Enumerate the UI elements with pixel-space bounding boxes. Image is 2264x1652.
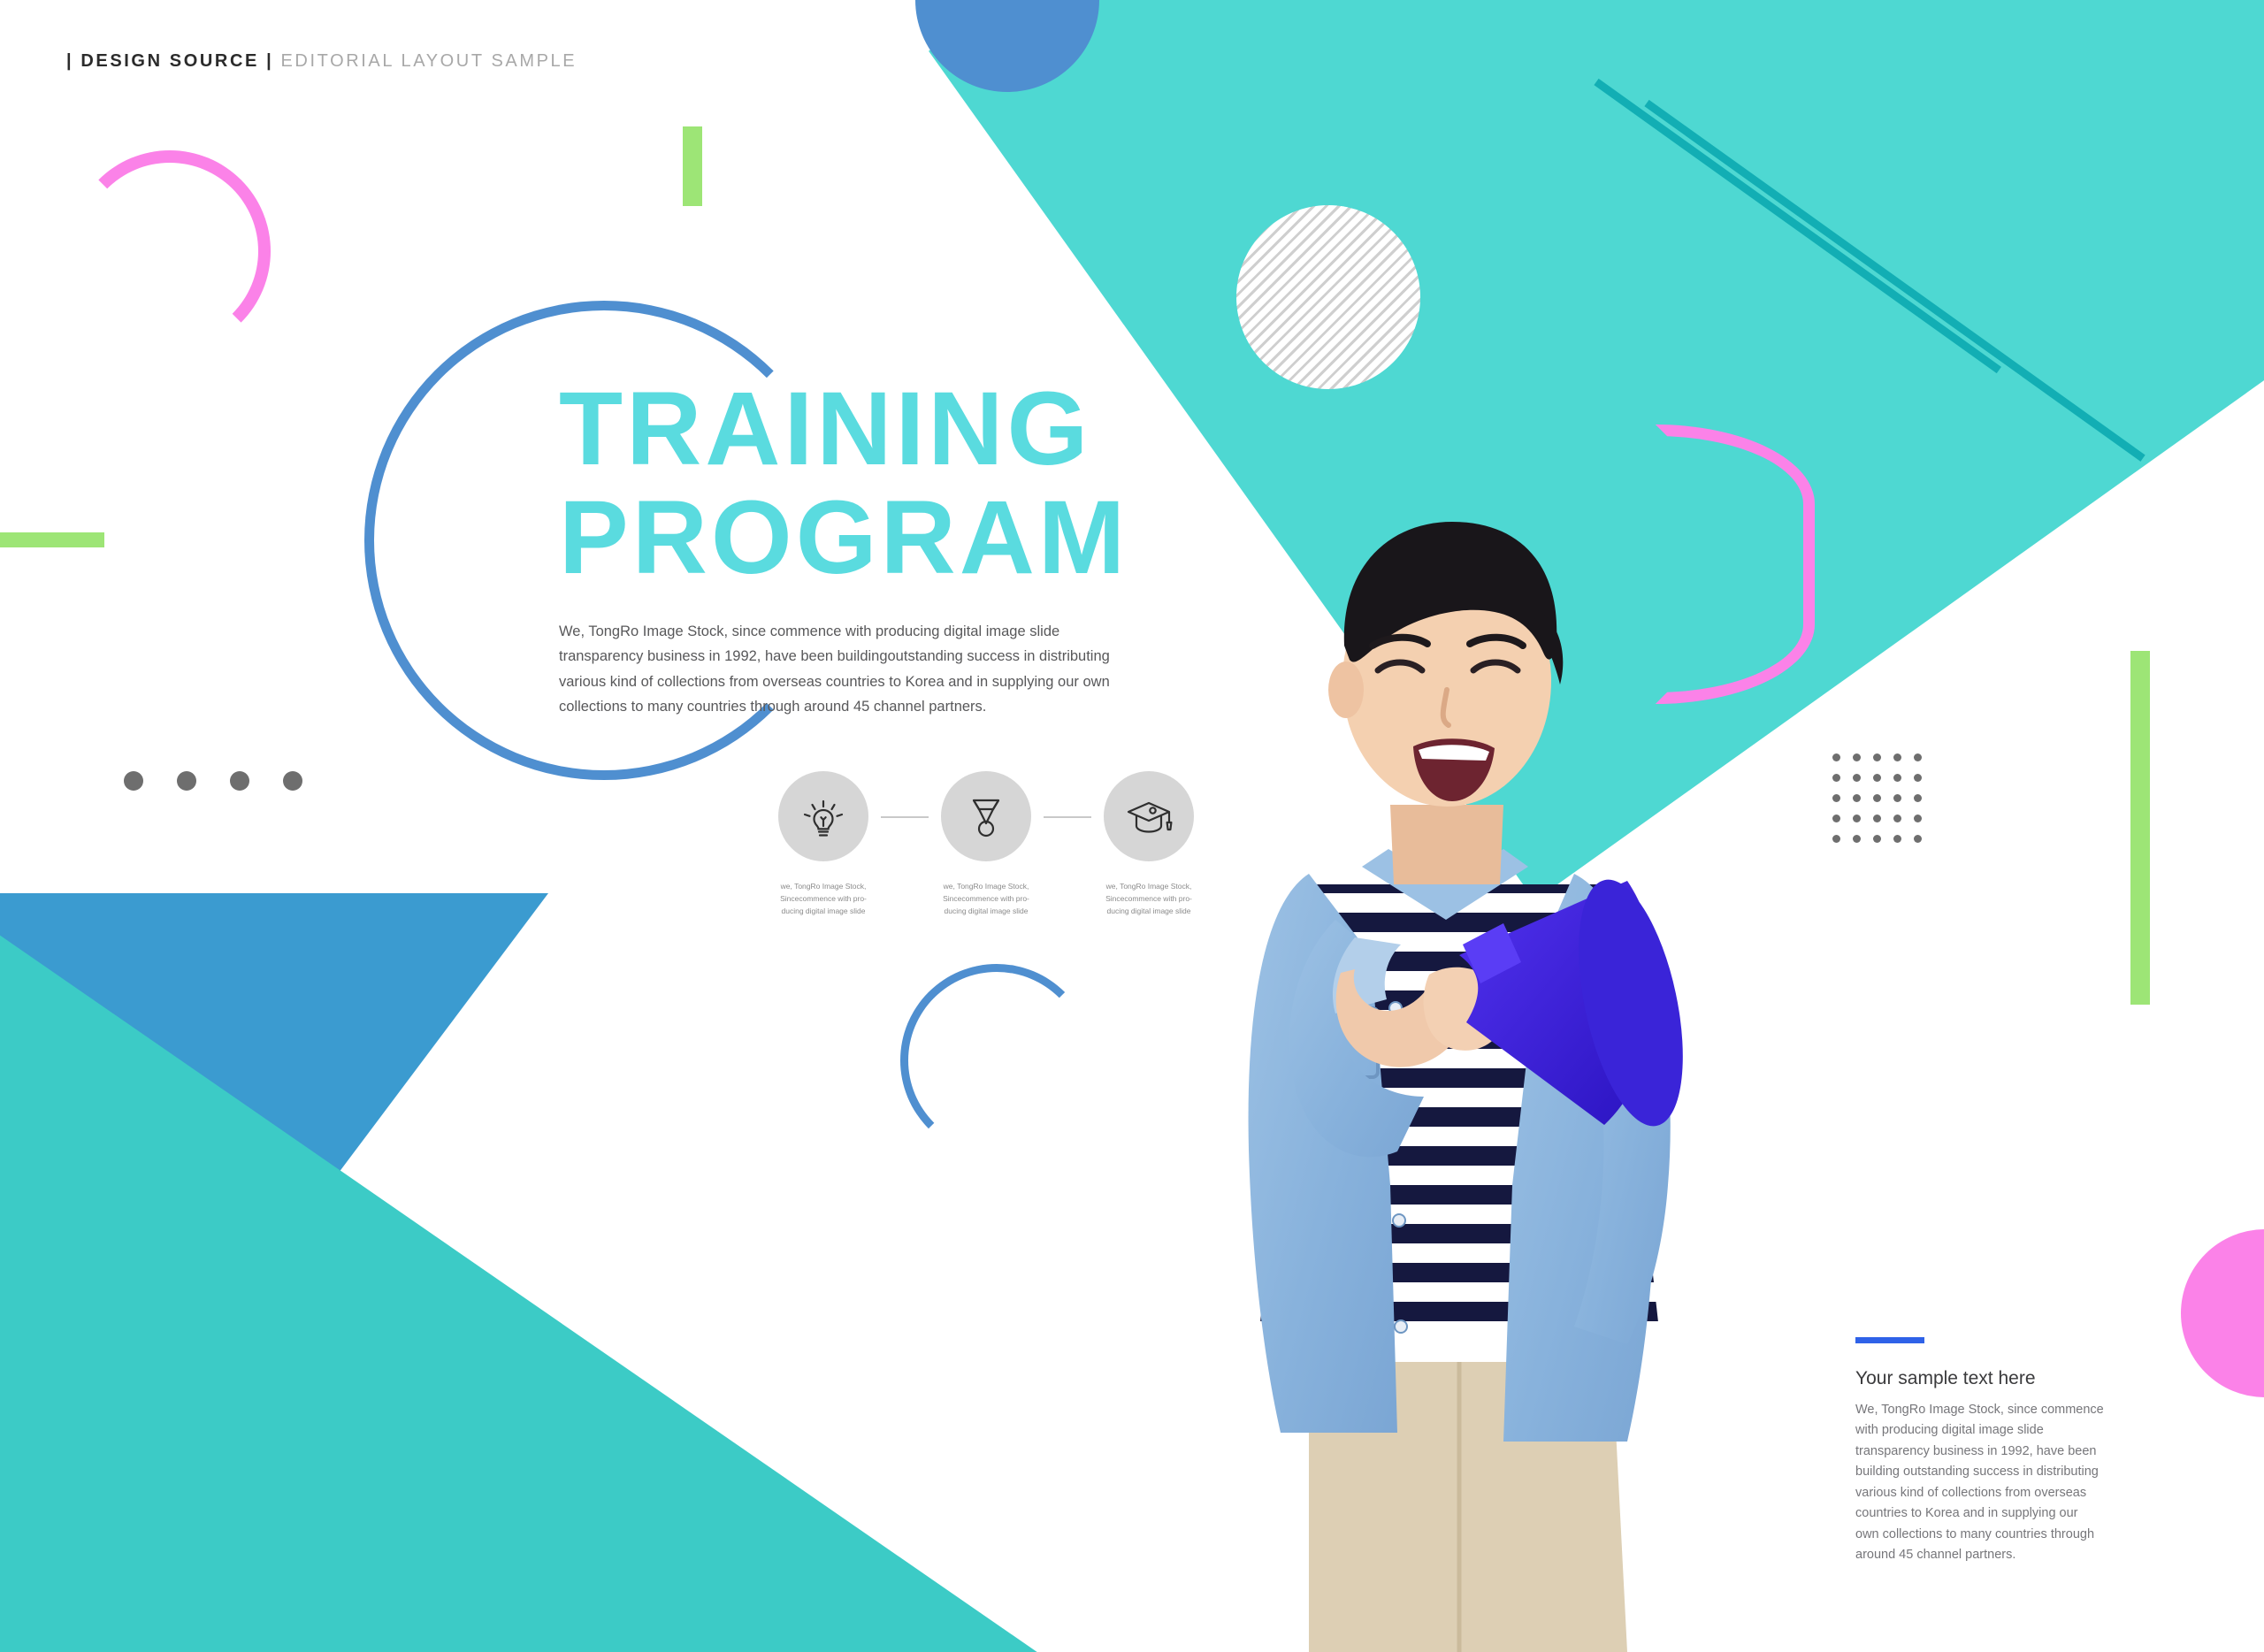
feature-item-2[interactable]: we, TongRo Image Stock, Sincecommence wi… xyxy=(929,771,1044,917)
pink-quarter-arc-top-left xyxy=(69,150,271,352)
green-bar-left xyxy=(0,532,104,547)
sidebar-note-heading: Your sample text here xyxy=(1855,1368,2105,1389)
striped-circle-decor xyxy=(1236,205,1420,389)
header-subtitle: EDITORIAL LAYOUT SAMPLE xyxy=(280,51,577,71)
icon-circle-2 xyxy=(941,771,1031,861)
sidebar-note: Your sample text here We, TongRo Image S… xyxy=(1855,1337,2105,1566)
feature-caption-1: we, TongRo Image Stock, Sincecommence wi… xyxy=(774,881,873,917)
teal-triangle-bottom-left xyxy=(0,911,1052,1652)
green-tick-top xyxy=(683,126,702,206)
gray-dot xyxy=(283,771,302,791)
poster-canvas: | DESIGN SOURCE | EDITORIAL LAYOUT SAMPL… xyxy=(0,0,2264,1652)
feature-caption-2: we, TongRo Image Stock, Sincecommence wi… xyxy=(937,881,1036,917)
sidebar-note-body: We, TongRo Image Stock, since commence w… xyxy=(1855,1400,2105,1566)
medal-icon xyxy=(961,792,1011,841)
dot-grid-decor xyxy=(1832,753,1934,855)
header-brand: | DESIGN SOURCE | xyxy=(66,51,273,71)
sidebar-note-rule xyxy=(1855,1337,1924,1343)
lightbulb-icon xyxy=(798,791,849,842)
pink-disc-bottom-right xyxy=(2181,1229,2264,1397)
gray-dot xyxy=(230,771,249,791)
gray-dot xyxy=(177,771,196,791)
gray-dots-row xyxy=(124,771,302,791)
person-illustration xyxy=(1044,389,1839,1652)
icon-circle-1 xyxy=(778,771,868,861)
green-bar-right xyxy=(2130,651,2150,1005)
gray-dot xyxy=(124,771,143,791)
feature-item-1[interactable]: we, TongRo Image Stock, Sincecommence wi… xyxy=(766,771,881,917)
person-with-megaphone-photo xyxy=(1044,389,1839,1652)
header-label: | DESIGN SOURCE | EDITORIAL LAYOUT SAMPL… xyxy=(66,51,577,72)
icon-connector-1 xyxy=(881,816,929,818)
